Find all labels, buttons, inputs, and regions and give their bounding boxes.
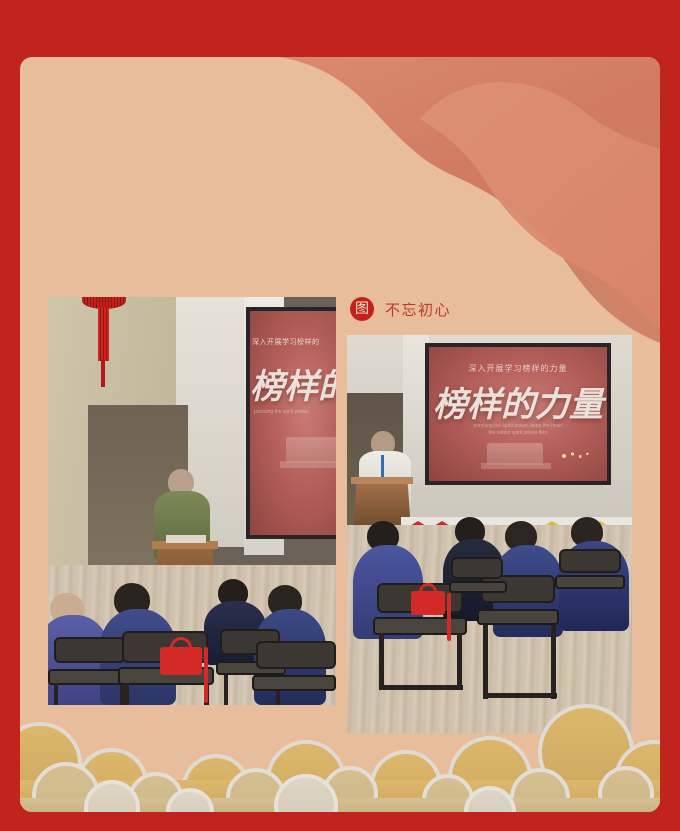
photo-2-scene: 深入开展学习榜样的力量 榜样的力量 pursuing the spirit po… (347, 335, 632, 733)
photo-gallery: 深入开展学习榜样的 榜样的 pursuing the spirit power (20, 57, 660, 812)
photo-2-screen-subtitle: 深入开展学习榜样的力量 (429, 363, 607, 374)
caption-label: 不忘初心 (385, 299, 451, 320)
photo-1-screen-subtitle: 深入开展学习榜样的 (252, 337, 336, 347)
red-handbag (160, 647, 202, 675)
photo-thumbnail-2[interactable]: 深入开展学习榜样的力量 榜样的力量 pursuing the spirit po… (347, 335, 632, 733)
image-badge-icon: 图 (350, 297, 374, 321)
photo-2-screen-title: 榜样的力量 (429, 377, 607, 426)
photo-thumbnail-1[interactable]: 深入开展学习榜样的 榜样的 pursuing the spirit power (48, 297, 336, 705)
photo-1-scene: 深入开展学习榜样的 榜样的 pursuing the spirit power (48, 297, 336, 705)
content-card: 图 不忘初心 深入开展学习榜样的 榜样的 pu (20, 57, 660, 812)
red-handbag (411, 591, 445, 615)
page-root: 图 不忘初心 深入开展学习榜样的 榜样的 pu (0, 0, 680, 831)
caption-row: 图 不忘初心 (350, 297, 451, 321)
photo-1-screen-title: 榜样的 (250, 359, 336, 408)
